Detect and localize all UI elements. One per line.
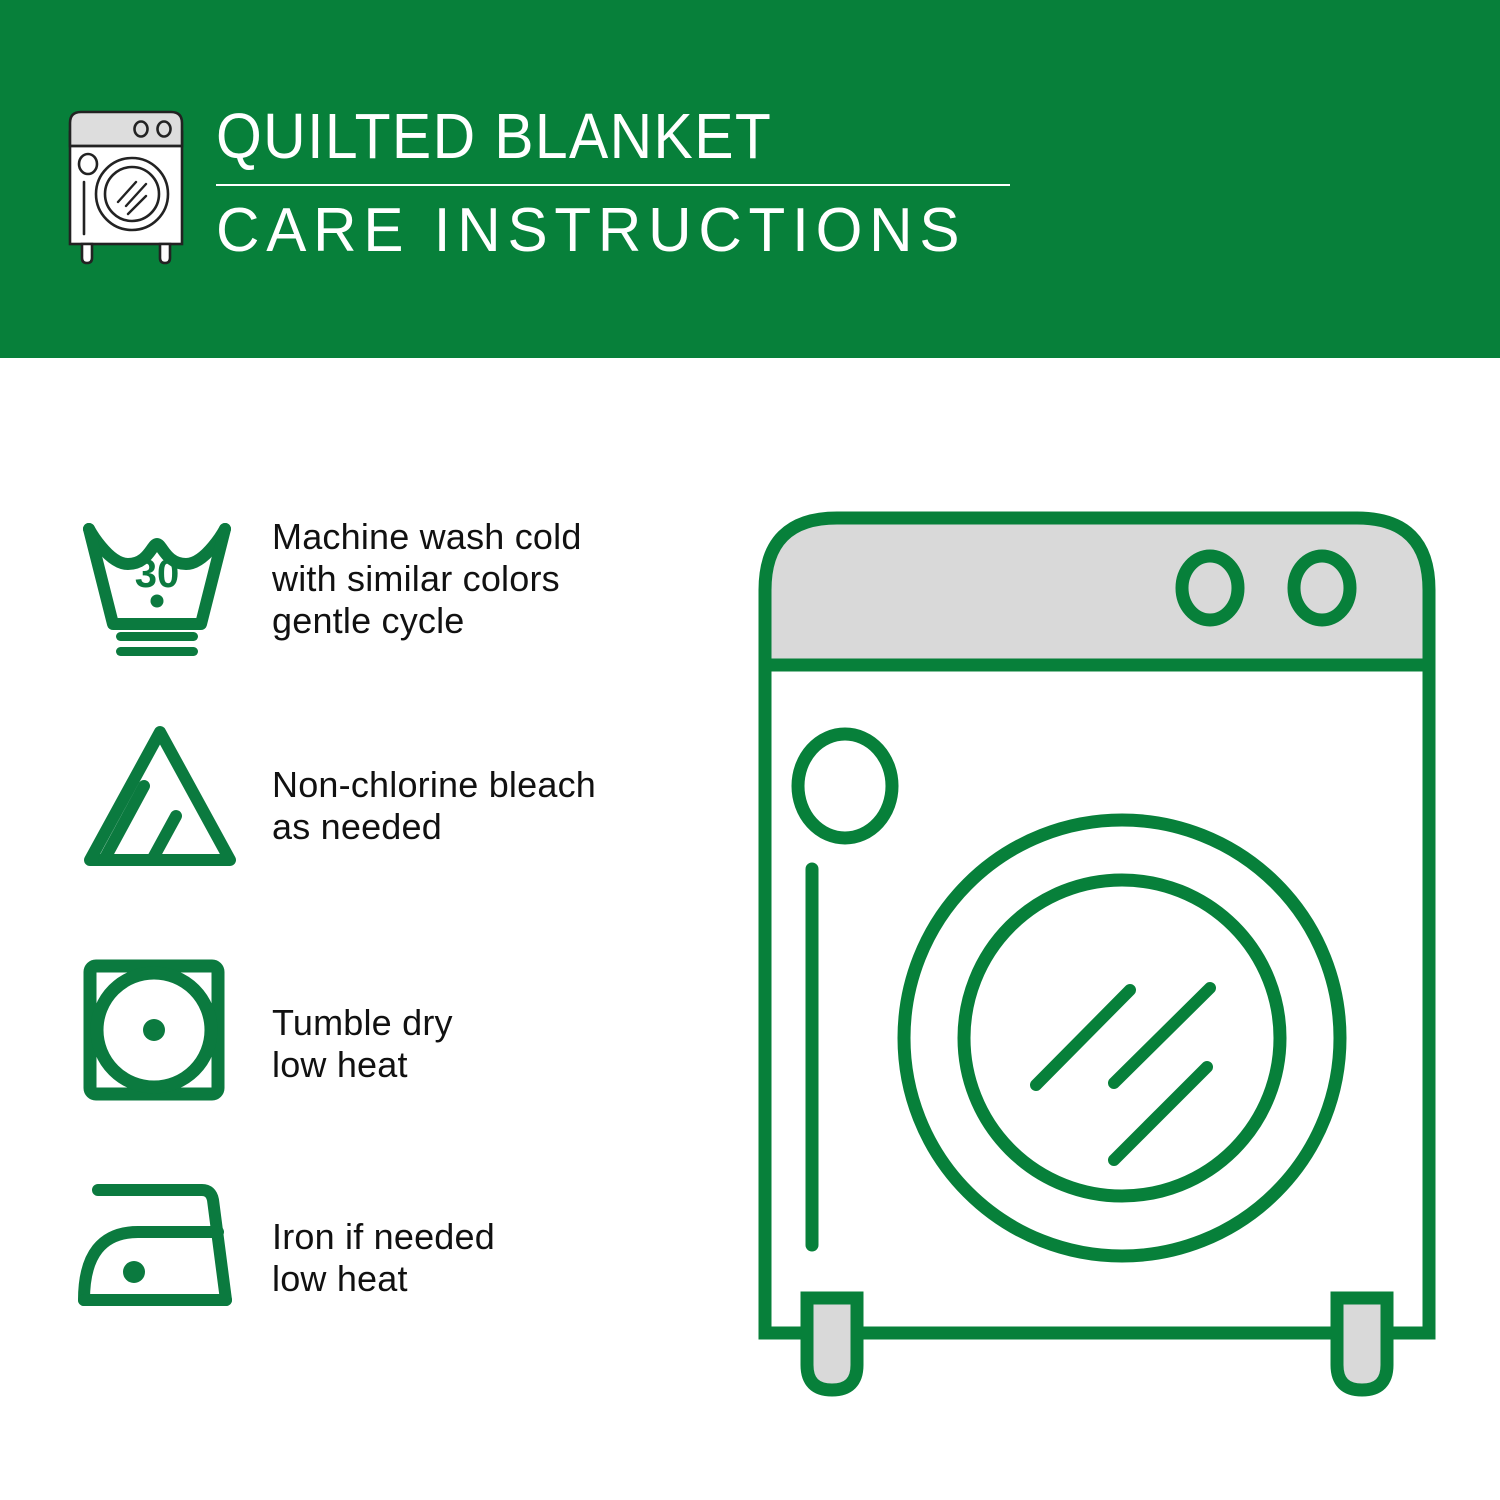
care-text-line: Machine wash cold [272,516,582,558]
washing-machine-illustration [752,505,1442,1410]
care-item-text: Iron if needed low heat [272,1172,495,1300]
care-item-machine-wash: 30 Machine wash cold with similar colors… [0,512,740,662]
leg-icon [1337,1298,1387,1390]
care-text-line: Tumble dry [272,1002,453,1044]
care-item-tumble-dry: Tumble dry low heat [0,958,740,1108]
care-item-text: Non-chlorine bleach as needed [272,720,596,848]
care-text-line: gentle cycle [272,600,582,642]
wash-tub-30-gentle-icon: 30 [72,512,242,662]
care-item-text: Tumble dry low heat [272,958,453,1086]
page-title-secondary: CARE INSTRUCTIONS [216,196,992,266]
care-item-text: Machine wash cold with similar colors ge… [272,512,582,642]
care-text-line: Iron if needed [272,1216,495,1258]
care-text-line: low heat [272,1258,495,1300]
care-text-line: with similar colors [272,558,582,600]
care-text-line: Non-chlorine bleach [272,764,596,806]
title-divider [216,184,1010,186]
care-text-line: low heat [272,1044,453,1086]
wash-temperature-label: 30 [135,552,180,596]
page-title-primary: QUILTED BLANKET [216,100,952,172]
header-band: QUILTED BLANKET CARE INSTRUCTIONS [0,0,1500,358]
tumble-dry-low-heat-icon [72,958,242,1108]
non-chlorine-bleach-triangle-icon [72,720,242,870]
iron-low-heat-icon [72,1172,242,1322]
care-text-line: as needed [272,806,596,848]
care-item-iron: Iron if needed low heat [0,1172,740,1322]
care-item-bleach: Non-chlorine bleach as needed [0,720,740,870]
care-instructions-infographic: QUILTED BLANKET CARE INSTRUCTIONS 30 [0,0,1500,1500]
header-title-block: QUILTED BLANKET CARE INSTRUCTIONS [216,100,1016,266]
leg-icon [807,1298,857,1390]
washing-machine-icon [62,106,194,266]
